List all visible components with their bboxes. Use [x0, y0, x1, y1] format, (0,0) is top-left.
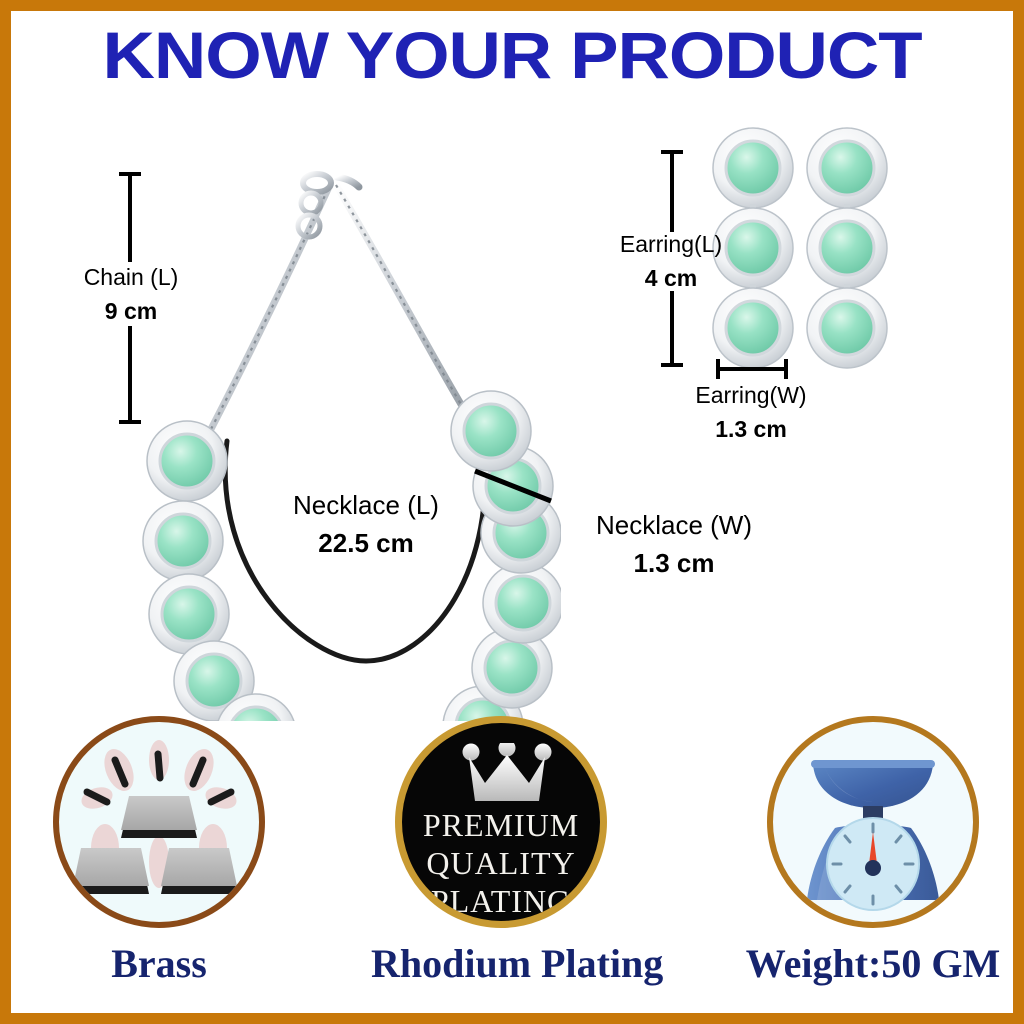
- necklace-length-value: 22.5 cm: [256, 527, 476, 560]
- brass-badge-circle: [53, 716, 265, 928]
- badge-rhodium-plating: PREMIUM QUALITY PLATING Rhodium Plating: [371, 716, 631, 987]
- earring-length-value: 4 cm: [591, 264, 751, 293]
- chain-length-label-text: Chain (L): [51, 263, 211, 292]
- earring-length-label: Earring(L) 4 cm: [591, 230, 751, 293]
- weight-badge-circle: [767, 716, 979, 928]
- metal-ingots-icon: [59, 722, 259, 922]
- chain-length-value: 9 cm: [51, 297, 211, 326]
- earring-width-label-text: Earring(W): [671, 381, 831, 410]
- earring-width-label: Earring(W) 1.3 cm: [671, 381, 831, 444]
- premium-seal-line-2: QUALITY: [402, 847, 600, 881]
- chain-length-label: Chain (L) 9 cm: [51, 263, 211, 326]
- badge-brass: Brass: [29, 716, 289, 987]
- earring-length-label-text: Earring(L): [591, 230, 751, 259]
- kitchen-scale-icon: [773, 722, 973, 922]
- rhodium-badge-label: Rhodium Plating: [371, 940, 631, 987]
- premium-badge-circle: PREMIUM QUALITY PLATING: [395, 716, 607, 928]
- weight-badge-label: Weight:50 GM: [743, 940, 1003, 987]
- necklace-width-value: 1.3 cm: [564, 547, 784, 580]
- necklace-width-label: Necklace (W) 1.3 cm: [564, 509, 784, 579]
- crown-icon: [461, 743, 553, 805]
- necklace-length-label: Necklace (L) 22.5 cm: [256, 489, 476, 559]
- premium-seal-line-3: PLATING: [402, 885, 600, 919]
- necklace-illustration: [131, 141, 561, 721]
- necklace-length-label-text: Necklace (L): [256, 489, 476, 522]
- premium-seal-line-1: PREMIUM: [402, 809, 600, 843]
- infographic-page: KNOW YOUR PRODUCT: [0, 0, 1024, 1024]
- necklace-width-label-text: Necklace (W): [564, 509, 784, 542]
- page-title: KNOW YOUR PRODUCT: [0, 17, 1024, 93]
- earring-width-value: 1.3 cm: [671, 415, 831, 444]
- badge-weight: Weight:50 GM: [743, 716, 1003, 987]
- brass-badge-label: Brass: [29, 940, 289, 987]
